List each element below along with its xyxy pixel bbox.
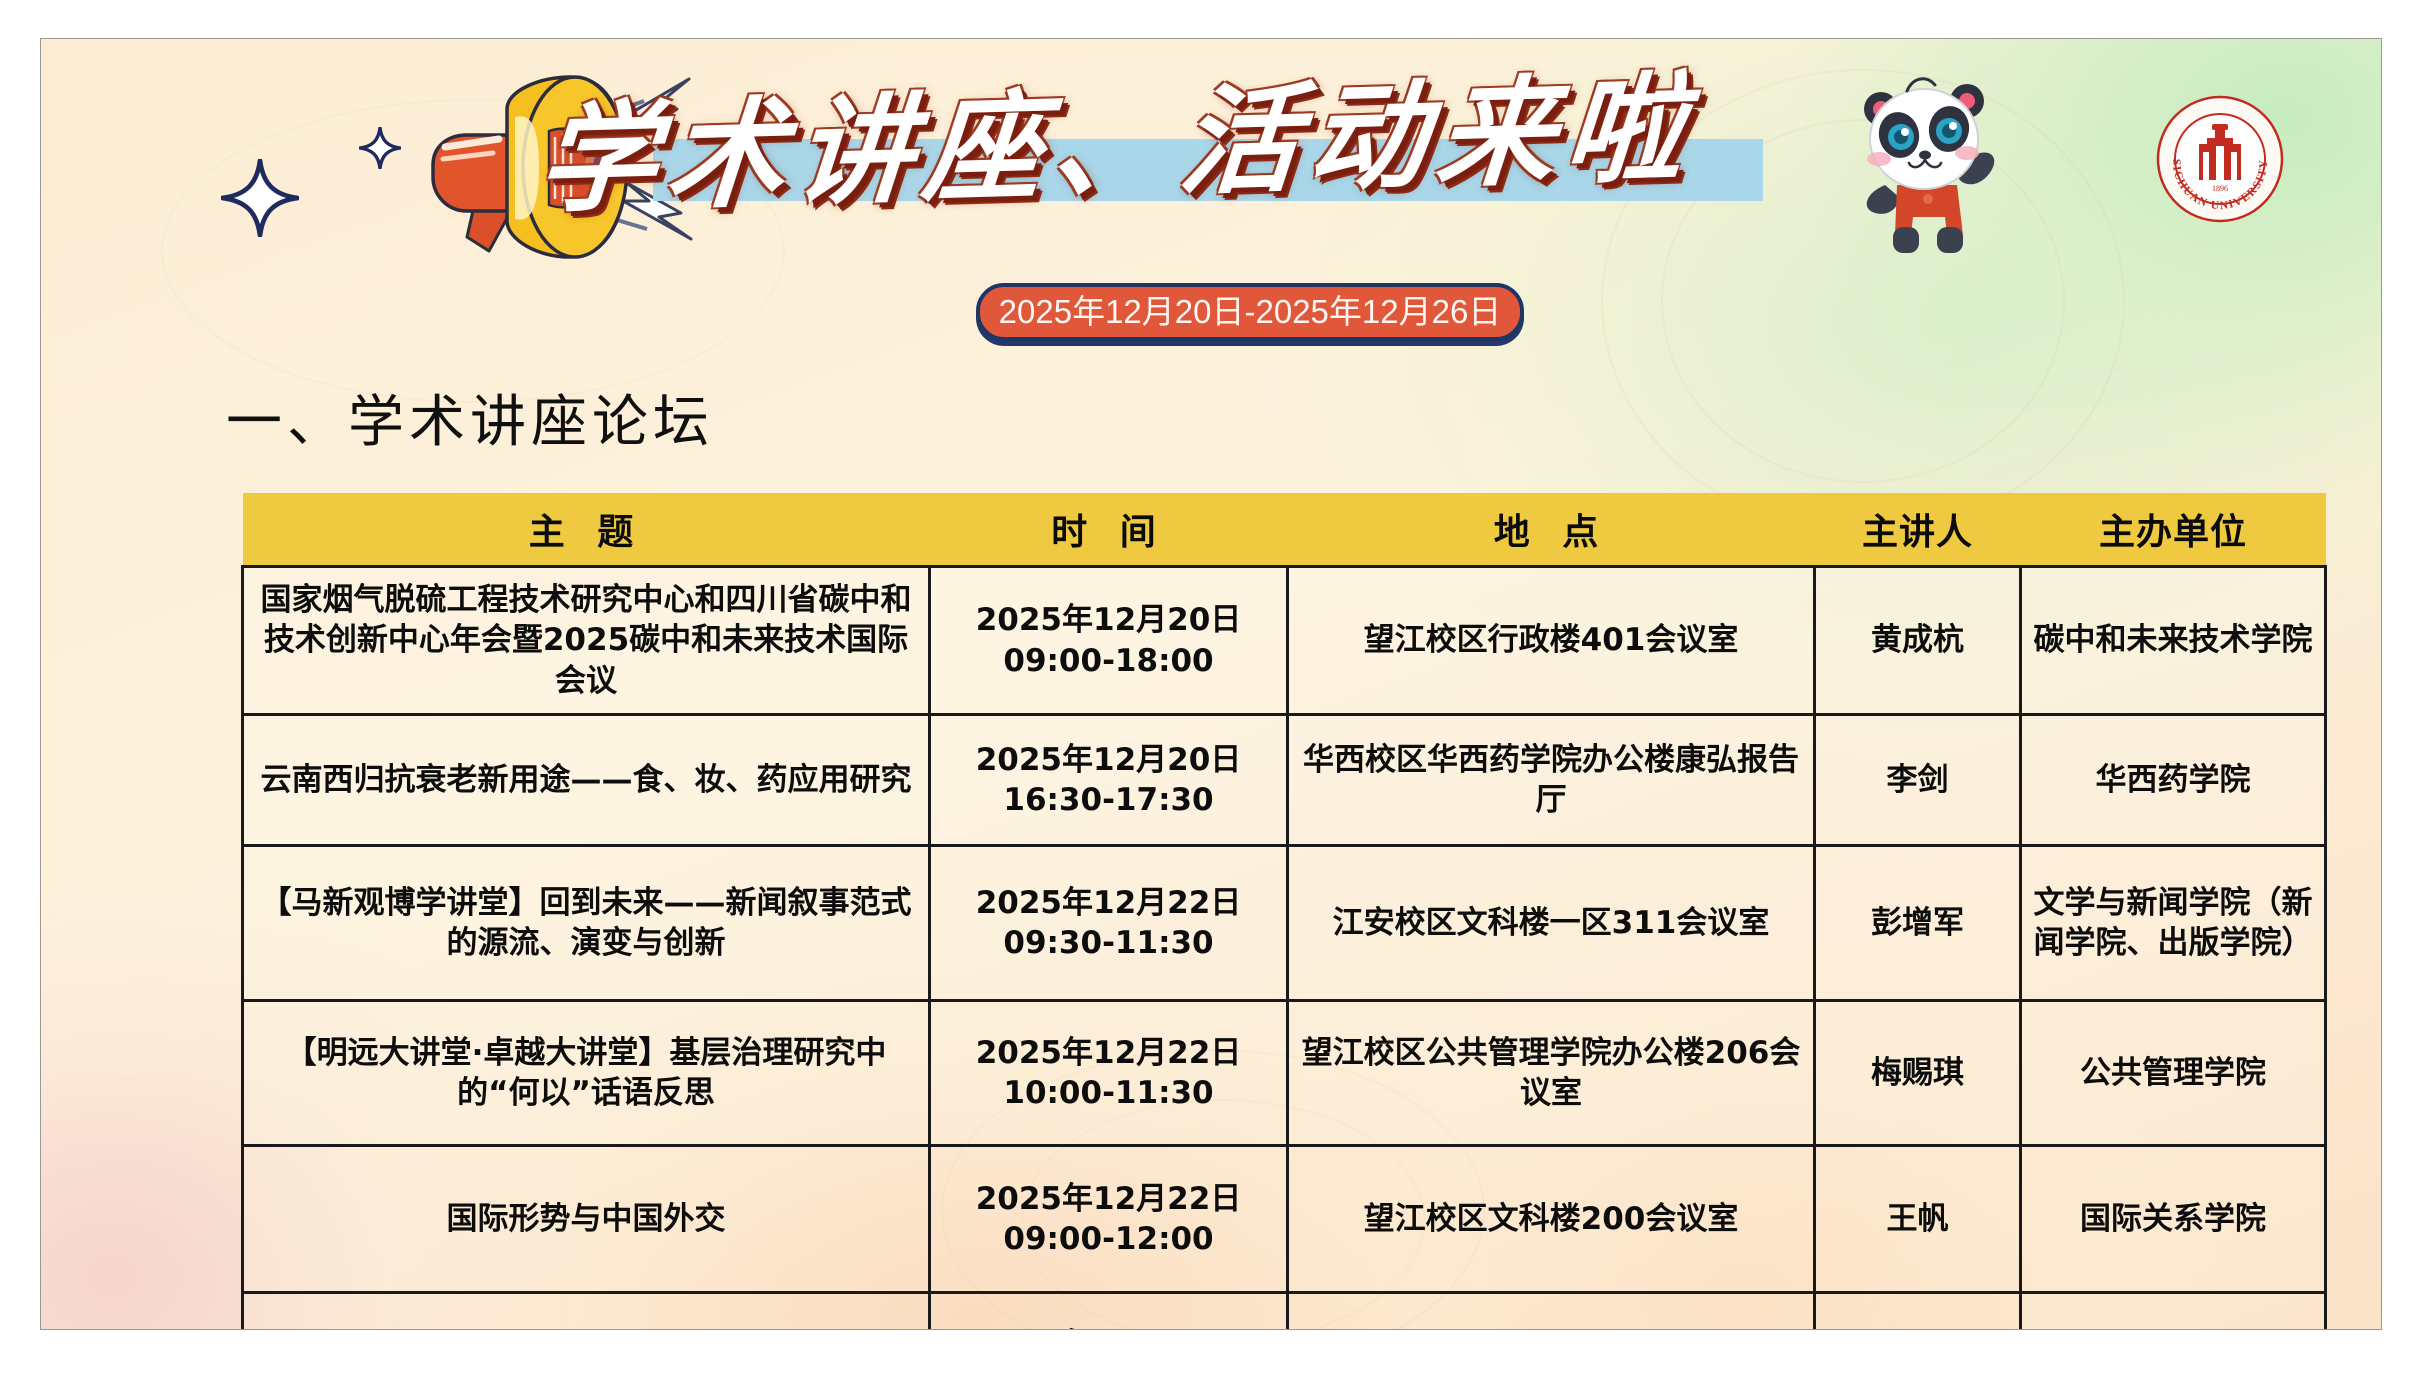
date-range-badge: 2025年12月20日-2025年12月26日 (976, 283, 1524, 341)
column-header-place: 地 点 (1288, 493, 1815, 567)
table-header-row: 主 题 时 间 地 点 主讲人 主办单位 (243, 493, 2326, 567)
cell-place: 华西校区华西药学院办公楼康弘报告厅 (1288, 715, 1815, 846)
logo-year: 1896 (2212, 184, 2228, 193)
panda-mascot-icon (1841, 67, 2021, 267)
table-row: 【明远大讲堂·卓越大讲堂】基层治理研究中的“何以”话语反思 2025年12月22… (243, 1001, 2326, 1146)
slide-canvas: 1896 SICHUAN UNIVERSITY 学术讲座、活动来啦 2025年1… (40, 38, 2382, 1330)
cell-speaker: 李剑 (1815, 715, 2021, 846)
sichuan-university-logo: 1896 SICHUAN UNIVERSITY (2155, 94, 2285, 224)
column-header-speaker: 主讲人 (1815, 493, 2021, 567)
cell-place: 望江校区文科楼200会议室 (1288, 1146, 1815, 1293)
cell-org: 碳中和未来技术学院 (2021, 567, 2326, 715)
cell-org: 国际关系学院 (2021, 1146, 2326, 1293)
cell-topic: 国家烟气脱硫工程技术研究中心和四川省碳中和技术创新中心年会暨2025碳中和未来技… (243, 567, 930, 715)
table-row: 生物信号网络的读取调控 2025年12月22日 11:00-12:00 华西校区… (243, 1293, 2326, 1331)
cell-place: 华西校区药学科技楼 (1288, 1293, 1815, 1331)
table-row: 云南西归抗衰老新用途——食、妆、药应用研究 2025年12月20日 16:30-… (243, 715, 2326, 846)
cell-time: 2025年12月22日 09:00-12:00 (930, 1146, 1288, 1293)
cell-topic: 生物信号网络的读取调控 (243, 1293, 930, 1331)
cell-time: 2025年12月22日 09:30-11:30 (930, 846, 1288, 1001)
cell-org: 华西药学院 (2021, 1293, 2326, 1331)
cell-time: 2025年12月22日 11:00-12:00 (930, 1293, 1288, 1331)
cell-topic: 云南西归抗衰老新用途——食、妆、药应用研究 (243, 715, 930, 846)
cell-org: 公共管理学院 (2021, 1001, 2326, 1146)
screenshot-root: 1896 SICHUAN UNIVERSITY 学术讲座、活动来啦 2025年1… (0, 0, 2420, 1398)
cell-speaker: 王帆 (1815, 1146, 2021, 1293)
cell-speaker: 梅赐琪 (1815, 1001, 2021, 1146)
cell-org: 华西药学院 (2021, 715, 2326, 846)
sparkle-icon (221, 159, 299, 237)
column-header-org: 主办单位 (2021, 493, 2326, 567)
cell-topic: 【马新观博学讲堂】回到未来——新闻叙事范式的源流、演变与创新 (243, 846, 930, 1001)
table-row: 国家烟气脱硫工程技术研究中心和四川省碳中和技术创新中心年会暨2025碳中和未来技… (243, 567, 2326, 715)
cell-topic: 【明远大讲堂·卓越大讲堂】基层治理研究中的“何以”话语反思 (243, 1001, 930, 1146)
cell-speaker: 彭增军 (1815, 846, 2021, 1001)
section-heading: 一、学术讲座论坛 (226, 377, 714, 458)
lecture-schedule-table: 主 题 时 间 地 点 主讲人 主办单位 国家烟气脱硫工程技术研究中心和四川省碳… (241, 493, 2327, 1330)
column-header-time: 时 间 (930, 493, 1288, 567)
cell-topic: 国际形势与中国外交 (243, 1146, 930, 1293)
column-header-topic: 主 题 (243, 493, 930, 567)
cell-speaker: 舒校坤 (1815, 1293, 2021, 1331)
cell-time: 2025年12月20日 09:00-18:00 (930, 567, 1288, 715)
cell-time: 2025年12月20日 16:30-17:30 (930, 715, 1288, 846)
cell-org: 文学与新闻学院（新闻学院、出版学院） (2021, 846, 2326, 1001)
table-row: 【马新观博学讲堂】回到未来——新闻叙事范式的源流、演变与创新 2025年12月2… (243, 846, 2326, 1001)
cell-place: 江安校区文科楼一区311会议室 (1288, 846, 1815, 1001)
cell-place: 望江校区行政楼401会议室 (1288, 567, 1815, 715)
table-row: 国际形势与中国外交 2025年12月22日 09:00-12:00 望江校区文科… (243, 1146, 2326, 1293)
cell-speaker: 黄成杭 (1815, 567, 2021, 715)
cell-time: 2025年12月22日 10:00-11:30 (930, 1001, 1288, 1146)
cell-place: 望江校区公共管理学院办公楼206会议室 (1288, 1001, 1815, 1146)
